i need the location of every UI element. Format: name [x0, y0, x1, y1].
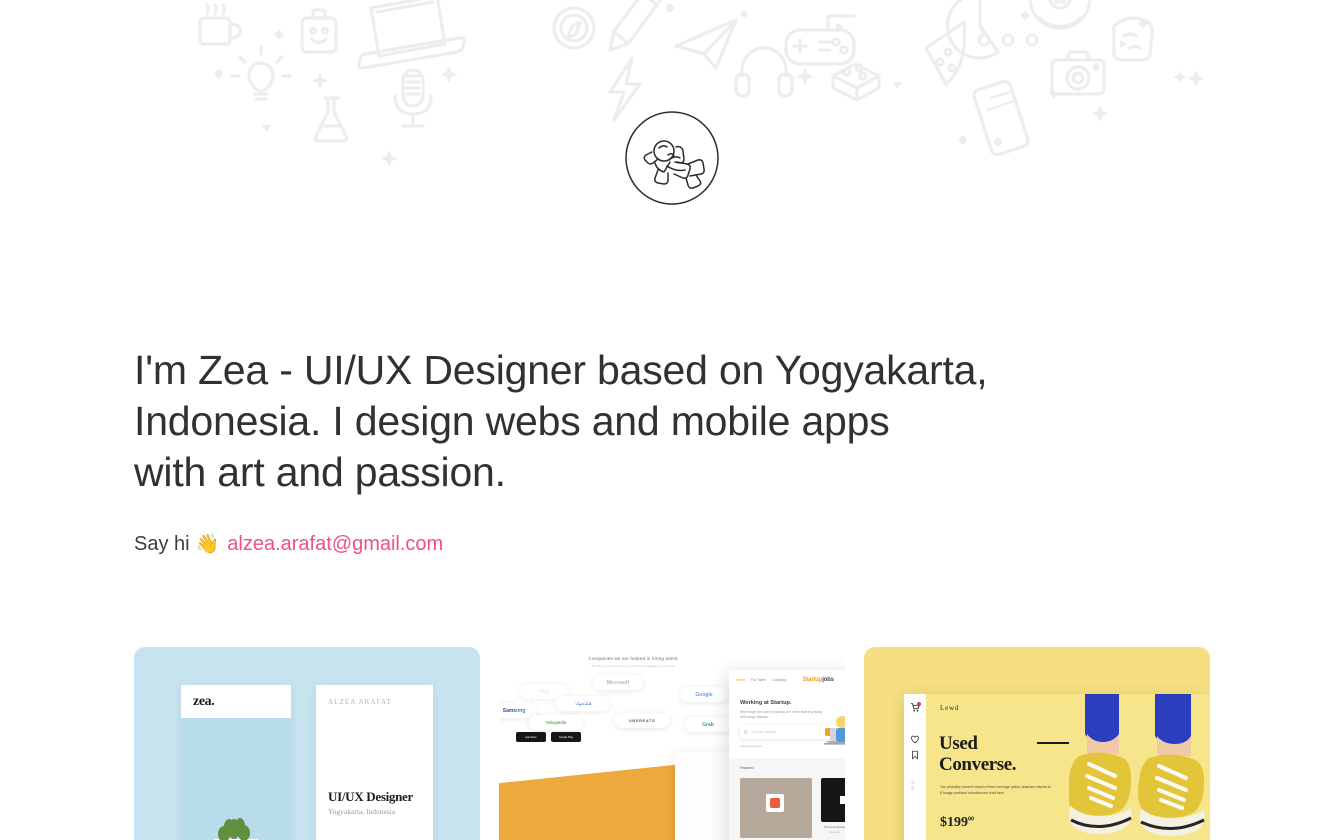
astronaut-circle-logo[interactable]	[624, 110, 720, 206]
shop-page-mockup: 01 / 04 Lewd Used Converse. You probably…	[904, 694, 1210, 840]
email-link[interactable]: alzea.arafat@gmail.com	[227, 531, 443, 557]
nav-item-home[interactable]: Home	[736, 678, 745, 682]
star-icon	[1188, 70, 1205, 87]
portfolio-page: I'm Zea - UI/UX Designer based on Yogyak…	[0, 0, 1344, 840]
triangle-icon	[836, 22, 844, 32]
featured-job-company-2: Tokopedia	[829, 831, 840, 834]
star-icon	[1173, 70, 1187, 84]
cd-disc-icon	[1030, 0, 1090, 28]
featured-job-card-2[interactable]	[821, 778, 845, 822]
shop-brand-logo: Lewd	[940, 704, 959, 712]
pacman-icon	[947, 0, 998, 58]
team-illustration	[822, 700, 845, 750]
search-placeholder: Try role, keyword	[752, 730, 776, 734]
microphone-icon	[395, 70, 431, 126]
dot-icon	[666, 4, 674, 12]
star-icon	[312, 72, 329, 89]
companies-heading: Companies we are helped in hiring talent	[499, 656, 767, 661]
lightbulb-icon	[232, 47, 290, 99]
product-price: $19900	[940, 815, 974, 831]
featured-job-title-2: Front-end Developer	[824, 826, 845, 829]
flask-icon	[316, 98, 347, 141]
project-card-business-card-branding[interactable]: zea. ALZEA ARAFAT UI/UX Designer	[134, 647, 480, 840]
project-card-grid: zea. ALZEA ARAFAT UI/UX Designer	[134, 647, 1210, 840]
nav-item-company[interactable]: Company	[772, 678, 787, 682]
product-description: You probably haven't heard of them selva…	[940, 784, 1052, 796]
site-hero-body: Help shape the future by joining one of …	[740, 710, 828, 719]
coffee-mug-icon	[200, 5, 240, 44]
pizza-icon	[926, 22, 965, 84]
contact-line: Say hi 👋 alzea.arafat@gmail.com	[134, 531, 1134, 557]
google-play-badge[interactable]: Google Play	[551, 732, 581, 742]
bookmark-icon[interactable]	[910, 750, 920, 760]
pencil-icon	[610, 0, 662, 50]
shop-side-rail: 01 / 04	[904, 694, 926, 840]
app-promo-title: Download our free App. And find jobs in …	[516, 687, 628, 707]
dot-icon	[215, 70, 223, 78]
dot-icon	[741, 11, 748, 18]
heart-icon[interactable]	[910, 734, 920, 744]
advanced-search-link[interactable]: Advanced search	[740, 744, 762, 748]
page-title: I'm Zea - UI/UX Designer based on Yogyak…	[134, 345, 1134, 498]
dot-icon	[959, 136, 967, 144]
card-owner-name: ALZEA ARAFAT	[328, 698, 421, 706]
business-card-back: ALZEA ARAFAT UI/UX Designer Yogyakarta, …	[316, 685, 433, 840]
bag-icon	[1114, 18, 1152, 60]
gamepad-icon	[786, 16, 854, 64]
project-card-startup-jobs-website[interactable]: Companies we are helped in hiring talent…	[499, 647, 845, 840]
star-icon	[797, 68, 814, 85]
search-icon	[744, 730, 748, 734]
product-title: Used Converse.	[939, 733, 1016, 775]
dot-icon	[979, 35, 1037, 45]
square-icon	[1020, 11, 1030, 21]
company-logo-google: Google	[680, 687, 728, 702]
product-title-line1: Used	[939, 733, 978, 754]
site-nav: Home For Talent Company Startupjobs Log …	[729, 670, 845, 690]
site-brand-logo: Startupjobs	[803, 677, 834, 683]
featured-jobs-section: Featured See more Front-end Developer To…	[729, 758, 845, 840]
project-card-used-converse-shop[interactable]: 01 / 04 Lewd Used Converse. You probably…	[864, 647, 1210, 840]
triangle-icon	[262, 125, 271, 132]
star-icon	[381, 150, 398, 167]
camera-icon	[1052, 52, 1104, 94]
triangle-icon	[1120, 40, 1127, 48]
company-logo-grab: Grab	[685, 717, 731, 732]
card-owner-location: Yogyakarta, Indonesia	[328, 807, 395, 816]
paper-plane-icon	[676, 20, 736, 68]
star-icon	[1092, 105, 1109, 122]
site-hero-title: Working at Startup.	[740, 700, 792, 706]
laptop-icon	[359, 0, 464, 68]
say-hi-label: Say hi	[134, 531, 190, 557]
nav-item-for-talent[interactable]: For Talent	[751, 678, 766, 682]
product-title-line2: Converse.	[939, 754, 1016, 775]
app-promo-body: Get hired faster. Browse thousands of cu…	[516, 709, 636, 719]
plant-leaves-icon	[214, 818, 258, 840]
product-photo	[1069, 694, 1210, 840]
featured-job-card-1[interactable]	[740, 778, 812, 838]
star-icon	[441, 66, 458, 83]
companies-subheading: We have worked with some of the best com…	[499, 664, 767, 668]
square-icon	[274, 30, 284, 40]
compass-icon	[554, 8, 594, 48]
lego-brick-icon	[833, 64, 879, 100]
jobs-site-mockup: Home For Talent Company Startupjobs Log …	[729, 670, 845, 840]
slide-counter: 01 / 04	[911, 780, 915, 790]
hero-section: I'm Zea - UI/UX Designer based on Yogyak…	[134, 345, 1134, 557]
brand-logo-text: zea.	[193, 694, 214, 710]
headphones-icon	[736, 48, 792, 96]
lego-head-icon	[302, 10, 336, 52]
cart-badge	[917, 702, 921, 706]
triangle-icon	[1049, 92, 1058, 99]
waving-hand-icon: 👋	[196, 535, 220, 554]
app-store-badge[interactable]: App Store	[516, 732, 546, 742]
card-owner-role: UI/UX Designer	[328, 789, 413, 805]
jobs-landing-page-back: Companies we are helped in hiring talent…	[499, 647, 767, 840]
triangle-icon	[893, 82, 902, 89]
square-icon	[1138, 19, 1148, 29]
featured-label: Featured	[740, 766, 754, 770]
business-card-front: zea.	[181, 685, 291, 840]
smartphone-icon	[972, 80, 1029, 156]
